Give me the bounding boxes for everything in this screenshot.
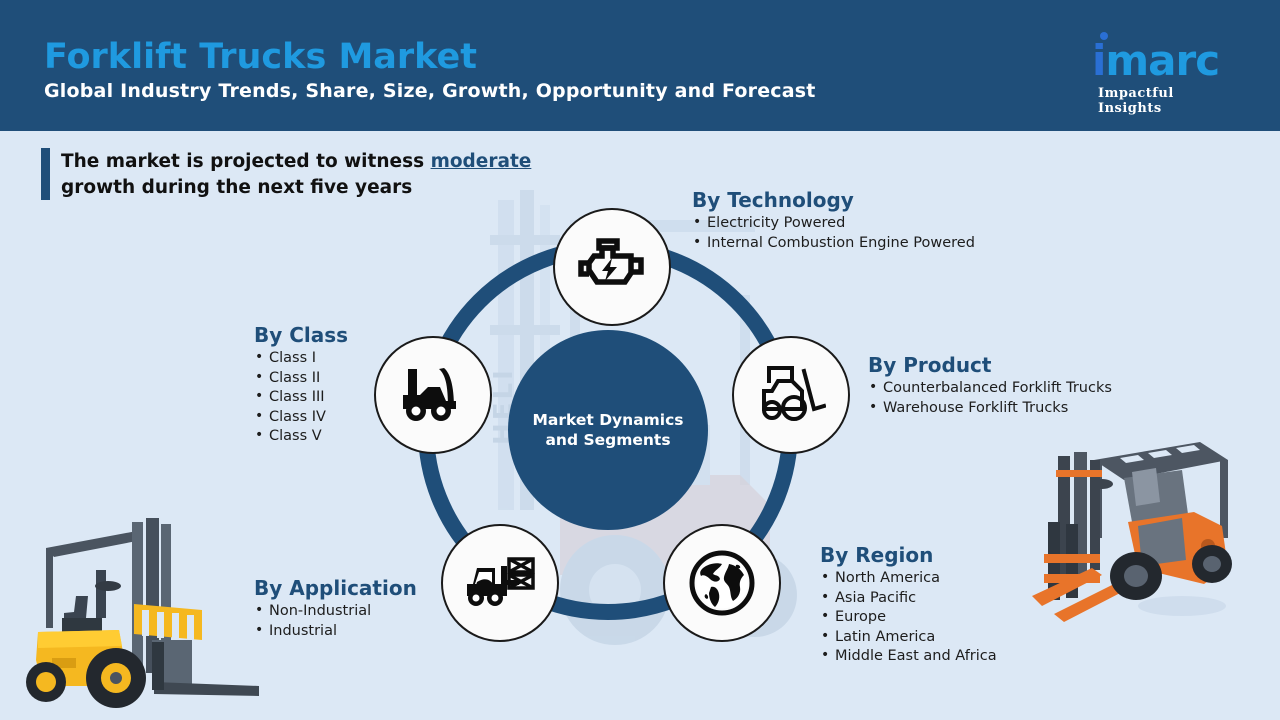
- forklift-pallet-icon: [463, 554, 537, 612]
- page-title: Forklift Trucks Market: [44, 36, 477, 78]
- list-item: Asia Pacific: [820, 589, 997, 609]
- list-item: Counterbalanced Forklift Trucks: [868, 379, 1112, 399]
- list-item: Non-Industrial: [254, 602, 417, 622]
- segment-application: By Application Non-Industrial Industrial: [254, 576, 417, 641]
- logo-tagline: Impactful Insights: [1098, 86, 1242, 116]
- segment-technology: By Technology Electricity Powered Intern…: [692, 188, 975, 253]
- list-item: Electricity Powered: [692, 214, 975, 234]
- segment-class-title: By Class: [254, 323, 348, 347]
- yellow-forklift-photo: [24, 500, 259, 715]
- list-item: Class II: [254, 369, 348, 389]
- node-technology[interactable]: [553, 208, 671, 326]
- segment-region: By Region North America Asia Pacific Eur…: [820, 543, 997, 667]
- list-item: North America: [820, 569, 997, 589]
- headline-accent-bar: [41, 148, 50, 200]
- segment-region-title: By Region: [820, 543, 997, 567]
- segment-class-list: Class I Class II Class III Class IV Clas…: [254, 349, 348, 447]
- node-product[interactable]: [732, 336, 850, 454]
- segment-technology-title: By Technology: [692, 188, 975, 212]
- list-item: Warehouse Forklift Trucks: [868, 399, 1112, 419]
- imarc-logo[interactable]: imarc Impactful Insights: [1092, 28, 1242, 108]
- hub-label-line1: Market Dynamics: [532, 411, 683, 429]
- header-banner: Forklift Trucks Market Global Industry T…: [0, 0, 1280, 131]
- list-item: Industrial: [254, 622, 417, 642]
- segment-product-list: Counterbalanced Forklift Trucks Warehous…: [868, 379, 1112, 418]
- headline-text: The market is projected to witness moder…: [61, 149, 621, 201]
- list-item: Class I: [254, 349, 348, 369]
- list-item: Class V: [254, 427, 348, 447]
- wheel-hub: Market Dynamicsand Segments: [508, 330, 708, 530]
- list-item: Europe: [820, 608, 997, 628]
- list-item: Latin America: [820, 628, 997, 648]
- list-item: Middle East and Africa: [820, 647, 997, 667]
- segment-wheel-diagram: Market Dynamicsand Segments: [398, 195, 838, 665]
- segment-application-list: Non-Industrial Industrial: [254, 602, 417, 641]
- headline-highlight: moderate: [431, 151, 532, 172]
- segment-region-list: North America Asia Pacific Europe Latin …: [820, 569, 997, 667]
- list-item: Internal Combustion Engine Powered: [692, 234, 975, 254]
- logo-letter-i: i: [1092, 36, 1105, 85]
- globe-icon: [689, 550, 755, 616]
- node-region[interactable]: [663, 524, 781, 642]
- node-application[interactable]: [441, 524, 559, 642]
- wheel-hub-label: Market Dynamicsand Segments: [532, 410, 683, 450]
- headline-before: The market is projected to witness: [61, 151, 431, 172]
- logo-wordmark: imarc: [1092, 38, 1219, 84]
- segment-application-title: By Application: [254, 576, 417, 600]
- list-item: Class III: [254, 388, 348, 408]
- list-item: Class IV: [254, 408, 348, 428]
- engine-electric-icon: [577, 236, 647, 298]
- forklift-outline-icon: [756, 365, 826, 425]
- headline-after: growth during the next five years: [61, 177, 412, 198]
- segment-product: By Product Counterbalanced Forklift Truc…: [868, 353, 1112, 418]
- orange-forklift-photo: [1032, 418, 1262, 648]
- logo-letters-marc: marc: [1105, 36, 1219, 85]
- node-class[interactable]: [374, 336, 492, 454]
- segment-class: By Class Class I Class II Class III Clas…: [254, 323, 348, 447]
- segment-product-title: By Product: [868, 353, 1112, 377]
- hub-label-line2: and Segments: [545, 431, 670, 449]
- forklift-solid-icon: [398, 367, 468, 423]
- segment-technology-list: Electricity Powered Internal Combustion …: [692, 214, 975, 253]
- page-subtitle: Global Industry Trends, Share, Size, Gro…: [44, 80, 816, 102]
